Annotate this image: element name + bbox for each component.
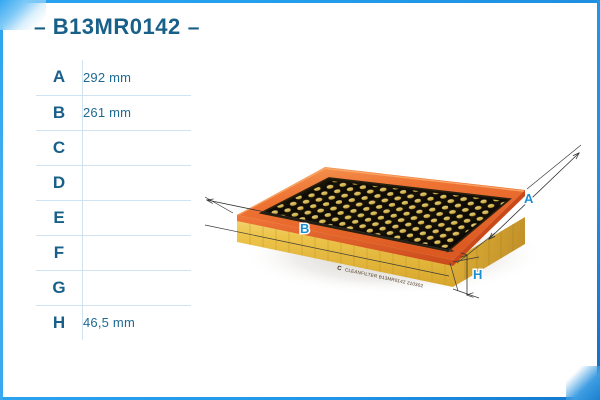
- callout-b-label: B: [300, 221, 309, 236]
- dimension-value: [83, 130, 192, 165]
- dimension-key: F: [36, 235, 83, 270]
- frame-top-border: [0, 0, 600, 3]
- dimensions-table: A 292 mm B 261 mm C D E F: [36, 60, 191, 340]
- table-row: D: [36, 165, 191, 200]
- dimension-key: B: [36, 95, 83, 130]
- table-row: B 261 mm: [36, 95, 191, 130]
- table-row: H 46,5 mm: [36, 305, 191, 340]
- callout-h-label: H: [473, 267, 482, 282]
- dimension-value: [83, 200, 192, 235]
- dimensions-table-body: A 292 mm B 261 mm C D E F: [36, 60, 191, 340]
- page-title: – B13MR0142 –: [34, 16, 199, 38]
- dimension-value: 261 mm: [83, 95, 192, 130]
- corner-glow-bottom-right: [566, 366, 600, 400]
- table-row: G: [36, 270, 191, 305]
- frame-left-border: [0, 0, 3, 400]
- dimension-key: G: [36, 270, 83, 305]
- dimension-key: A: [36, 60, 83, 95]
- dimension-value: [83, 270, 192, 305]
- dimension-value: [83, 165, 192, 200]
- table-row: E: [36, 200, 191, 235]
- product-part-number: B13MR0142: [53, 16, 181, 38]
- title-dash-right-icon: –: [188, 17, 200, 38]
- product-illustration: C CLEANFILTER B13MR0142 210302: [195, 105, 590, 320]
- product-spec-page: – B13MR0142 – A 292 mm B 261 mm C D E: [0, 0, 600, 400]
- table-row: A 292 mm: [36, 60, 191, 95]
- dimension-key: E: [36, 200, 83, 235]
- title-dash-left-icon: –: [34, 17, 46, 38]
- dimension-value: 292 mm: [83, 60, 192, 95]
- dimension-key: C: [36, 130, 83, 165]
- dimension-key: H: [36, 305, 83, 340]
- dimension-value: 46,5 mm: [83, 305, 192, 340]
- table-row: C: [36, 130, 191, 165]
- callout-a-label: A: [524, 191, 534, 206]
- table-row: F: [36, 235, 191, 270]
- dimension-key: D: [36, 165, 83, 200]
- dimension-value: [83, 235, 192, 270]
